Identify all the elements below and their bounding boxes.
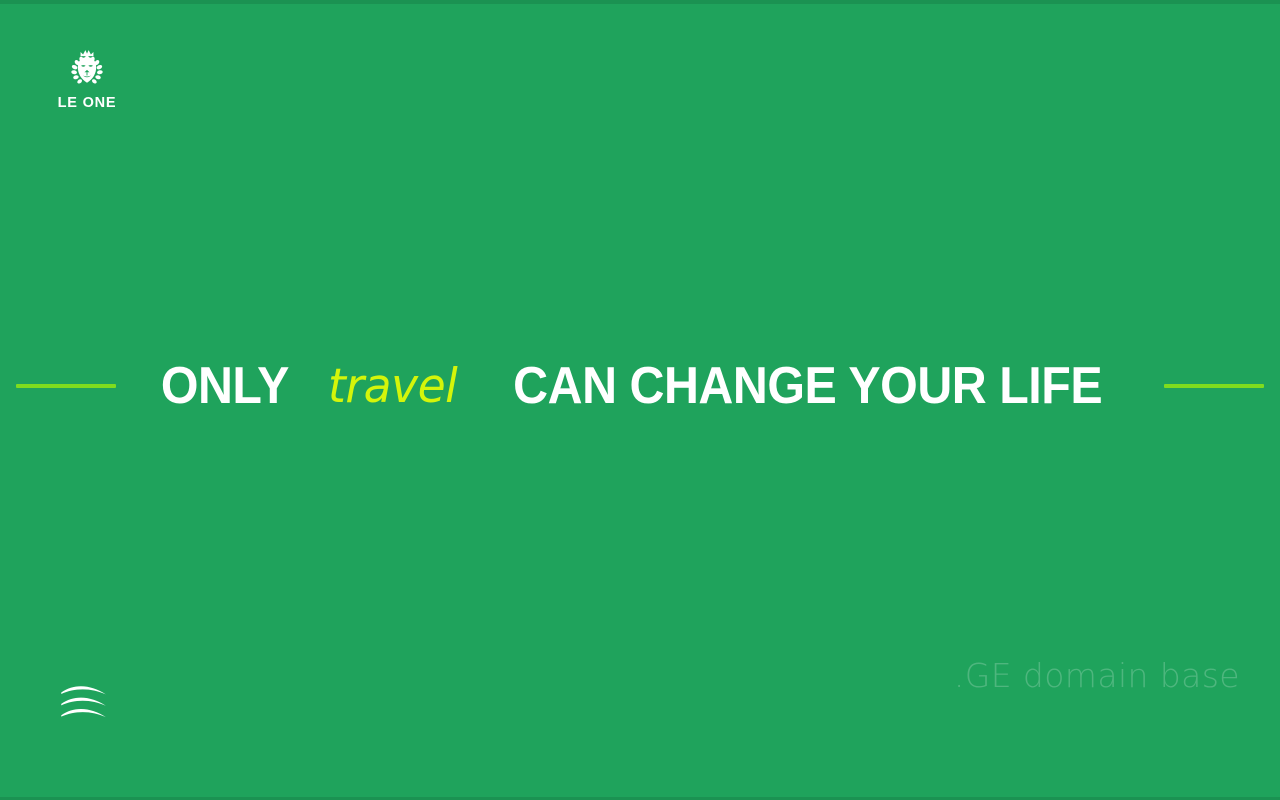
slide-canvas: LE ONE ONLY travel CAN CHANGE YOUR LIFE … (0, 0, 1280, 800)
headline-part-1: ONLY (161, 360, 289, 412)
wave-arcs-icon (60, 684, 108, 720)
headline-part-3: CAN CHANGE YOUR LIFE (513, 360, 1102, 412)
headline-rule-right (1164, 384, 1264, 388)
headline-rule-left (16, 384, 116, 388)
watermark-label: .GE domain base (954, 659, 1240, 692)
headline-part-2-accent: travel (328, 363, 457, 410)
